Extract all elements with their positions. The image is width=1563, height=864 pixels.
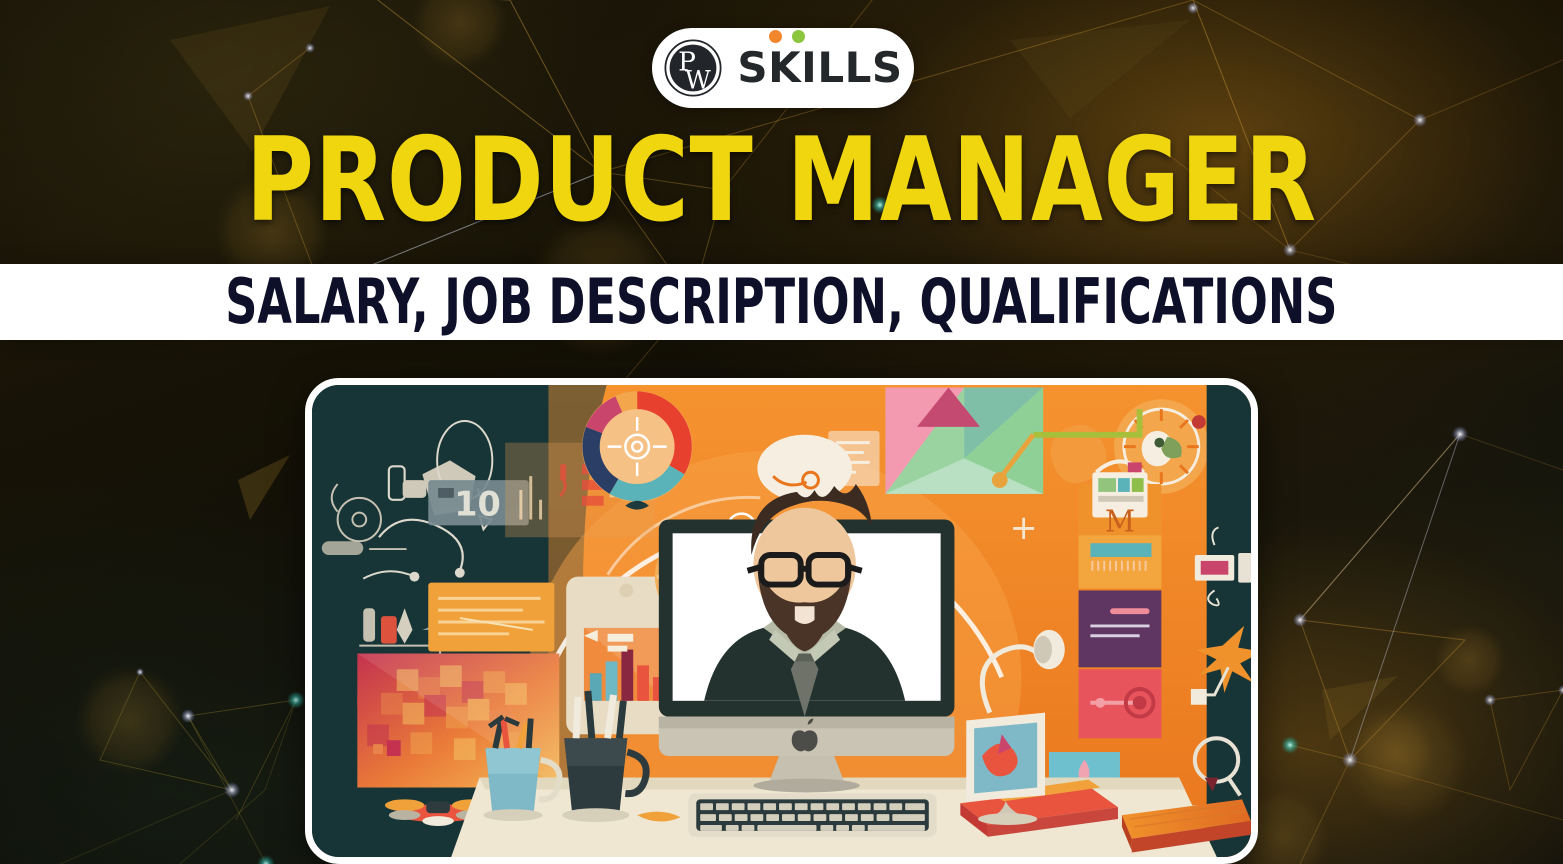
skills-wordmark-text: SKILLS: [737, 47, 902, 89]
svg-text:10: 10: [454, 485, 501, 524]
svg-text:M: M: [1105, 504, 1135, 538]
pw-skills-logo[interactable]: P W SKILLS: [652, 28, 914, 108]
hero-illustration-card: 10: [305, 378, 1258, 864]
logo-dot-green-icon: [792, 30, 805, 43]
headline: PRODUCT MANAGER: [0, 128, 1563, 235]
svg-text:+: +: [1010, 508, 1038, 547]
banner-root: P W SKILLS PRODUCT MANAGER SALARY, JOB D…: [0, 0, 1563, 864]
page-title: PRODUCT MANAGER: [246, 128, 1317, 235]
subtitle-band: SALARY, JOB DESCRIPTION, QUALIFICATIONS: [0, 264, 1563, 340]
svg-text:W: W: [685, 65, 711, 94]
logo-dot-orange-icon: [769, 30, 782, 43]
product-manager-illustration: 10: [312, 385, 1251, 857]
page-subtitle: SALARY, JOB DESCRIPTION, QUALIFICATIONS: [225, 271, 1337, 333]
pw-monogram-icon: P W: [663, 38, 723, 98]
skills-wordmark: SKILLS: [737, 47, 902, 89]
